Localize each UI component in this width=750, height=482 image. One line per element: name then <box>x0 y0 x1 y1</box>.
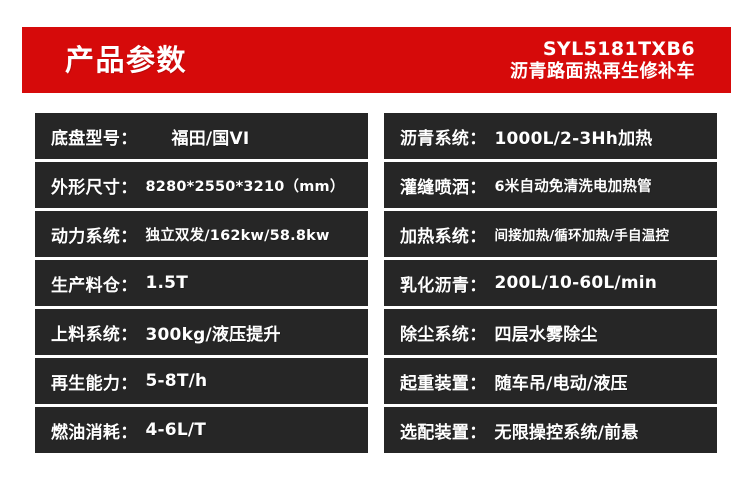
spec-row: 生产料仓： 1.5T <box>35 260 368 306</box>
spec-row: 加热系统： 间接加热/循环加热/手自温控 <box>384 211 717 257</box>
spec-value: 独立双发/162kw/58.8kw <box>146 224 330 245</box>
spec-row: 除尘系统： 四层水雾除尘 <box>384 309 717 355</box>
product-spec-page: 产品参数 SYL5181TXB6 沥青路面热再生修补车 底盘型号： 福田/国VI… <box>0 0 750 482</box>
spec-label: 沥青系统： <box>400 124 487 149</box>
spec-value: 无限操控系统/前悬 <box>495 418 639 443</box>
spec-label: 上料系统： <box>51 320 138 345</box>
spec-value: 6米自动免清洗电加热管 <box>495 175 652 196</box>
spec-value: 四层水雾除尘 <box>495 320 598 345</box>
spec-row: 外形尺寸： 8280*2550*3210（mm） <box>35 162 368 208</box>
product-model-code: SYL5181TXB6 <box>510 38 695 60</box>
spec-value: 5-8T/h <box>146 371 208 391</box>
spec-label: 再生能力： <box>51 369 138 394</box>
spec-label: 灌缝喷洒： <box>400 173 487 198</box>
spec-label: 动力系统： <box>51 222 138 247</box>
spec-value: 1000L/2-3Hh加热 <box>495 124 653 149</box>
spec-row: 上料系统： 300kg/液压提升 <box>35 309 368 355</box>
spec-row: 再生能力： 5-8T/h <box>35 358 368 404</box>
spec-label: 乳化沥青： <box>400 271 487 296</box>
spec-row: 起重装置： 随车吊/电动/液压 <box>384 358 717 404</box>
spec-table: 底盘型号： 福田/国VI 外形尺寸： 8280*2550*3210（mm） 动力… <box>35 113 717 453</box>
spec-label: 外形尺寸： <box>51 173 138 198</box>
spec-value: 200L/10-60L/min <box>495 273 658 293</box>
spec-column-right: 沥青系统： 1000L/2-3Hh加热 灌缝喷洒： 6米自动免清洗电加热管 加热… <box>384 113 717 453</box>
spec-value: 4-6L/T <box>146 420 207 440</box>
spec-label: 加热系统： <box>400 222 487 247</box>
spec-label: 除尘系统： <box>400 320 487 345</box>
spec-label: 生产料仓： <box>51 271 138 296</box>
spec-value: 福田/国VI <box>172 124 250 149</box>
spec-row: 沥青系统： 1000L/2-3Hh加热 <box>384 113 717 159</box>
spec-label: 底盘型号： <box>51 124 138 149</box>
spec-value: 间接加热/循环加热/手自温控 <box>495 224 670 244</box>
spec-row: 燃油消耗： 4-6L/T <box>35 407 368 453</box>
spec-value: 300kg/液压提升 <box>146 320 281 345</box>
spec-row: 底盘型号： 福田/国VI <box>35 113 368 159</box>
spec-label: 燃油消耗： <box>51 418 138 443</box>
spec-row: 灌缝喷洒： 6米自动免清洗电加热管 <box>384 162 717 208</box>
header-banner: 产品参数 SYL5181TXB6 沥青路面热再生修补车 <box>22 27 731 93</box>
header-model-block: SYL5181TXB6 沥青路面热再生修补车 <box>510 38 713 82</box>
spec-value: 1.5T <box>146 273 189 293</box>
spec-label: 起重装置： <box>400 369 487 394</box>
spec-row: 乳化沥青： 200L/10-60L/min <box>384 260 717 306</box>
product-subtitle: 沥青路面热再生修补车 <box>510 61 695 82</box>
spec-row: 选配装置： 无限操控系统/前悬 <box>384 407 717 453</box>
spec-value: 随车吊/电动/液压 <box>495 369 628 394</box>
spec-label: 选配装置： <box>400 418 487 443</box>
spec-column-left: 底盘型号： 福田/国VI 外形尺寸： 8280*2550*3210（mm） 动力… <box>35 113 368 453</box>
spec-value: 8280*2550*3210（mm） <box>146 175 345 196</box>
page-title: 产品参数 <box>65 46 187 75</box>
spec-row: 动力系统： 独立双发/162kw/58.8kw <box>35 211 368 257</box>
